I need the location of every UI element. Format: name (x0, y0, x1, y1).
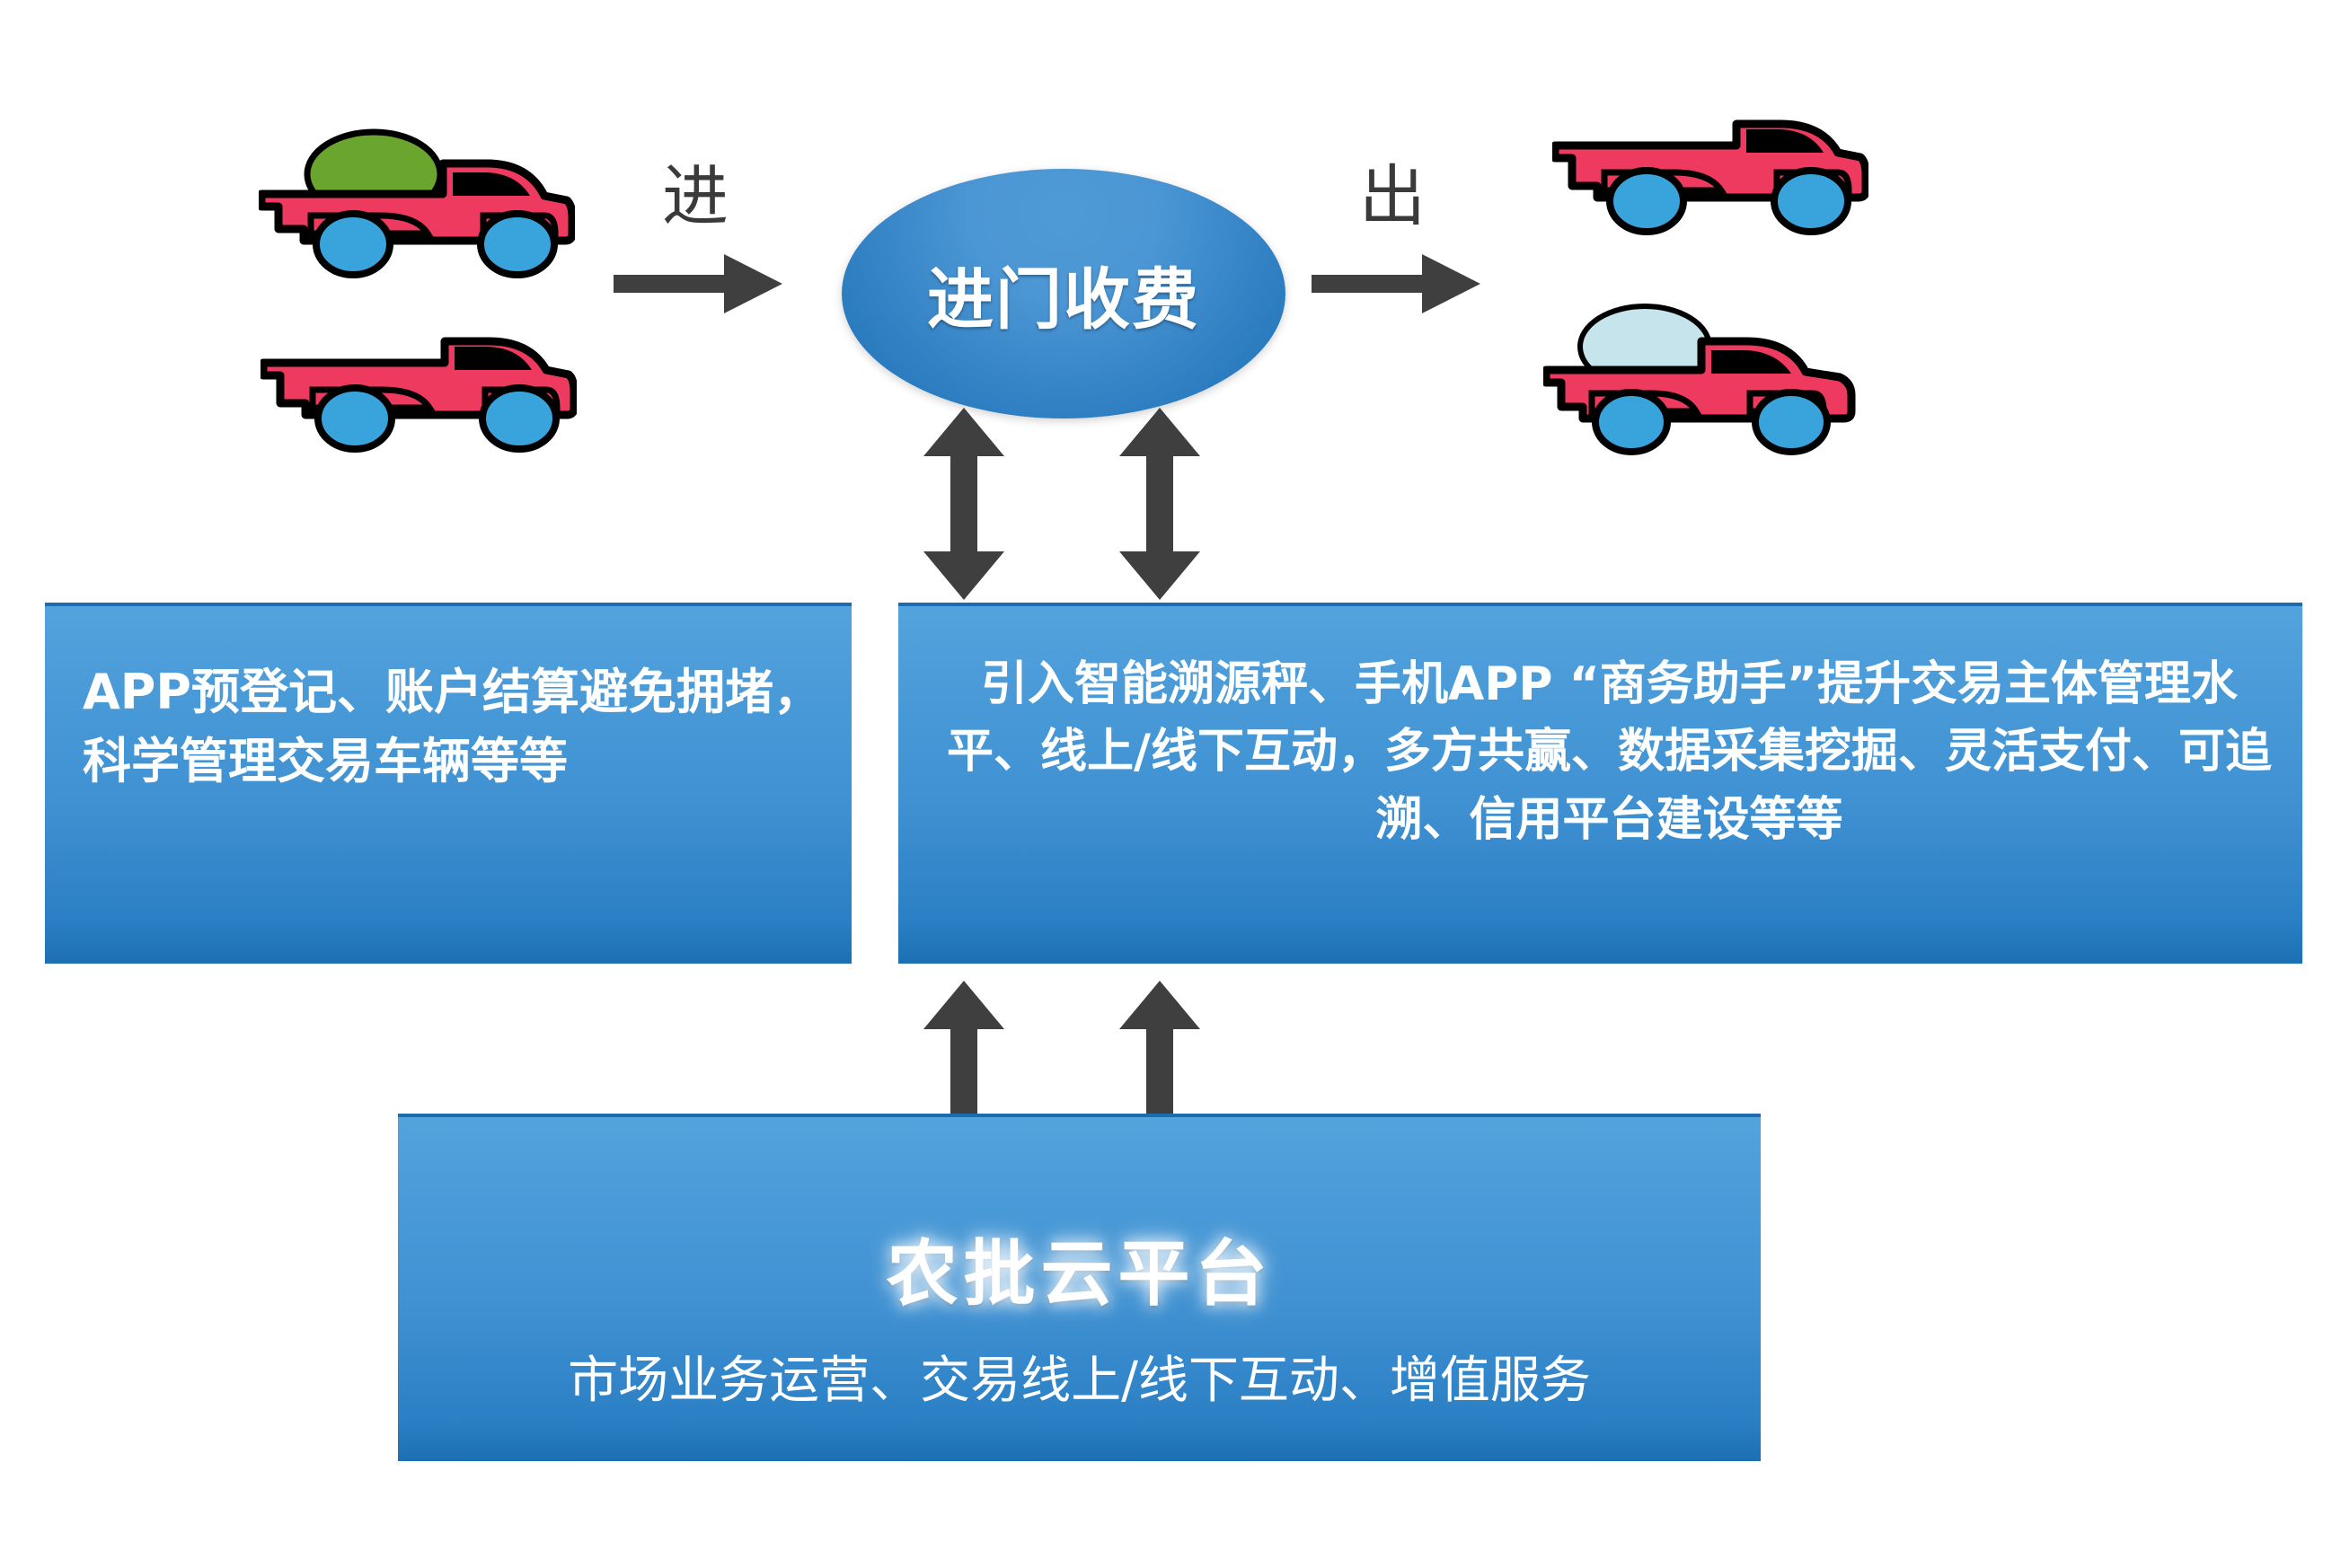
truck-inbound-loaded (259, 110, 575, 298)
truck-outbound-loaded (1543, 287, 1859, 467)
box-left-text: APP预登记、账户结算避免拥堵，科学管理交易车辆等等 (83, 658, 826, 796)
box-agri-cloud-platform[interactable]: 农批云平台 市场业务运营、交易线上/线下互动、增值服务 (398, 1114, 1761, 1461)
gate-toll-label: 进门收费 (927, 246, 1200, 342)
outbound-right-arrow-icon (1312, 251, 1482, 316)
box-right-text: 引入智能溯源秤、手机APP “商务助手”提升交易主体管理水平、线上/线下互动，多… (940, 651, 2279, 854)
connector-gate-to-right-box-left (921, 406, 1007, 602)
inbound-right-arrow-icon (614, 251, 784, 316)
connector-gate-to-right-box-right (1117, 406, 1203, 602)
truck-outbound-empty (1552, 115, 1868, 241)
platform-subtitle: 市场业务运营、交易线上/线下互动、增值服务 (398, 1340, 1761, 1413)
truck-inbound-empty (261, 332, 577, 458)
gate-toll-node[interactable]: 进门收费 (842, 169, 1285, 418)
box-smart-scale-services[interactable]: 引入智能溯源秤、手机APP “商务助手”提升交易主体管理水平、线上/线下互动，多… (898, 603, 2302, 964)
flow-label-in: 进 (662, 163, 729, 230)
flow-label-out: 出 (1359, 163, 1426, 230)
diagram-canvas: 进 进门收费 出 (0, 0, 2332, 1568)
platform-title: 农批云平台 (398, 1216, 1761, 1320)
box-app-preregistration[interactable]: APP预登记、账户结算避免拥堵，科学管理交易车辆等等 (45, 603, 852, 964)
